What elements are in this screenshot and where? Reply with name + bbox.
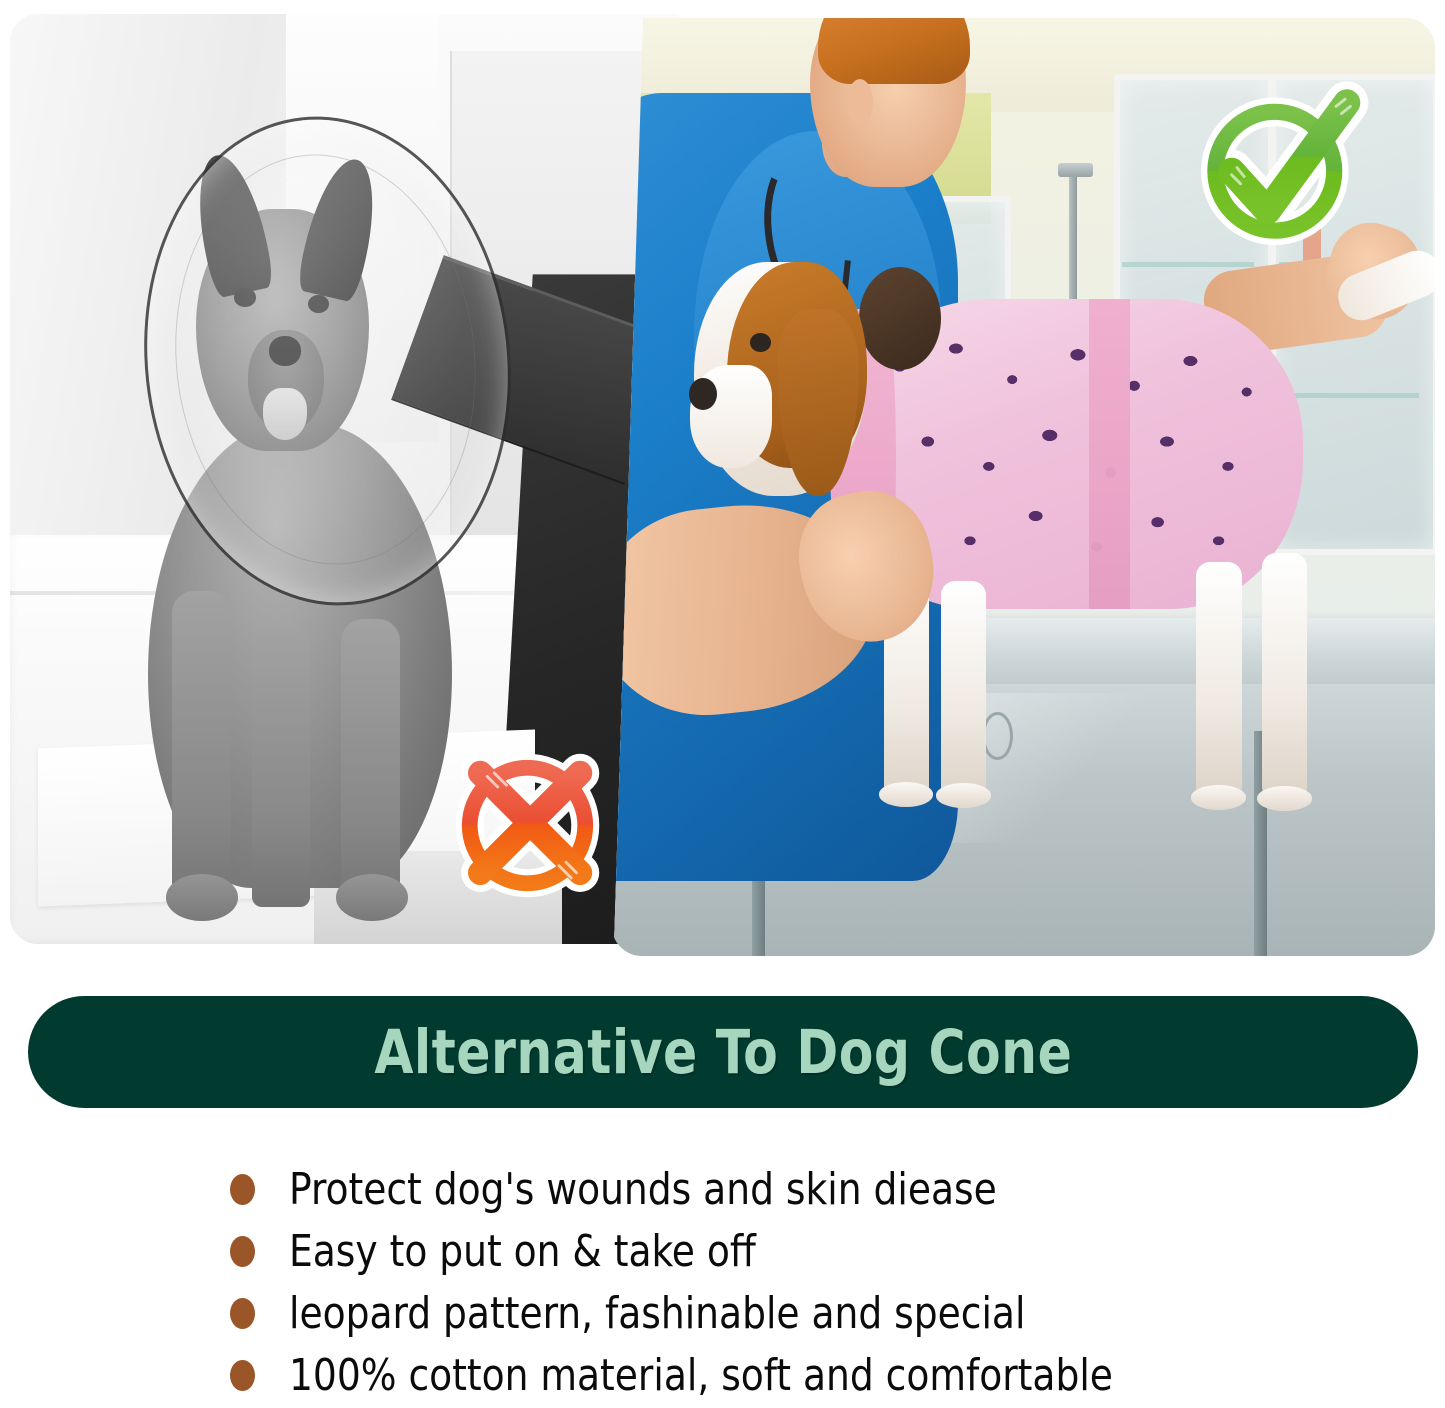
list-item: leopard pattern, fashinable and special: [230, 1282, 1430, 1344]
table-tether-ring: [982, 712, 1013, 760]
feature-text: Protect dog's wounds and skin diease: [289, 1164, 997, 1215]
beagle-leg: [1262, 553, 1307, 797]
bullet-icon: [230, 1298, 255, 1329]
list-item: 100% cotton material, soft and comfortab…: [230, 1344, 1430, 1406]
feature-text: 100% cotton material, soft and comfortab…: [289, 1350, 1113, 1401]
dog-leg: [341, 619, 400, 907]
feature-text: leopard pattern, fashinable and special: [289, 1288, 1025, 1339]
list-item: Protect dog's wounds and skin diease: [230, 1158, 1430, 1220]
bullet-icon: [230, 1236, 255, 1267]
vet-ear: [847, 79, 873, 126]
red-x-badge: [440, 738, 615, 913]
bullet-icon: [230, 1174, 255, 1205]
vet-hair: [818, 18, 970, 84]
banner-title: Alternative To Dog Cone: [374, 1017, 1072, 1088]
beagle-paw: [1257, 786, 1311, 810]
dog-paw: [166, 874, 238, 921]
beagle-paw: [936, 783, 990, 807]
faucet-spout: [1058, 163, 1093, 177]
beagle-eye: [750, 333, 771, 352]
beagle-back-patch: [859, 267, 941, 370]
beagle-leg: [941, 581, 986, 797]
section-banner: Alternative To Dog Cone: [28, 996, 1418, 1108]
dog-leg: [172, 591, 231, 907]
beagle-leg: [1196, 562, 1241, 797]
list-item: Easy to put on & take off: [230, 1220, 1430, 1282]
cabinet-shelf: [1122, 262, 1254, 267]
bullet-icon: [230, 1360, 255, 1391]
cabinet-shelf: [1279, 393, 1419, 398]
feature-text: Easy to put on & take off: [289, 1226, 756, 1277]
recovery-suit-band: [1089, 299, 1130, 609]
dog-leg: [252, 628, 311, 907]
feature-list: Protect dog's wounds and skin diease Eas…: [230, 1158, 1430, 1406]
dog-paw: [336, 874, 408, 921]
beagle-paw: [879, 782, 933, 806]
green-check-badge: [1192, 74, 1372, 254]
beagle-paw: [1191, 785, 1245, 809]
product-photo-row: [0, 0, 1445, 985]
